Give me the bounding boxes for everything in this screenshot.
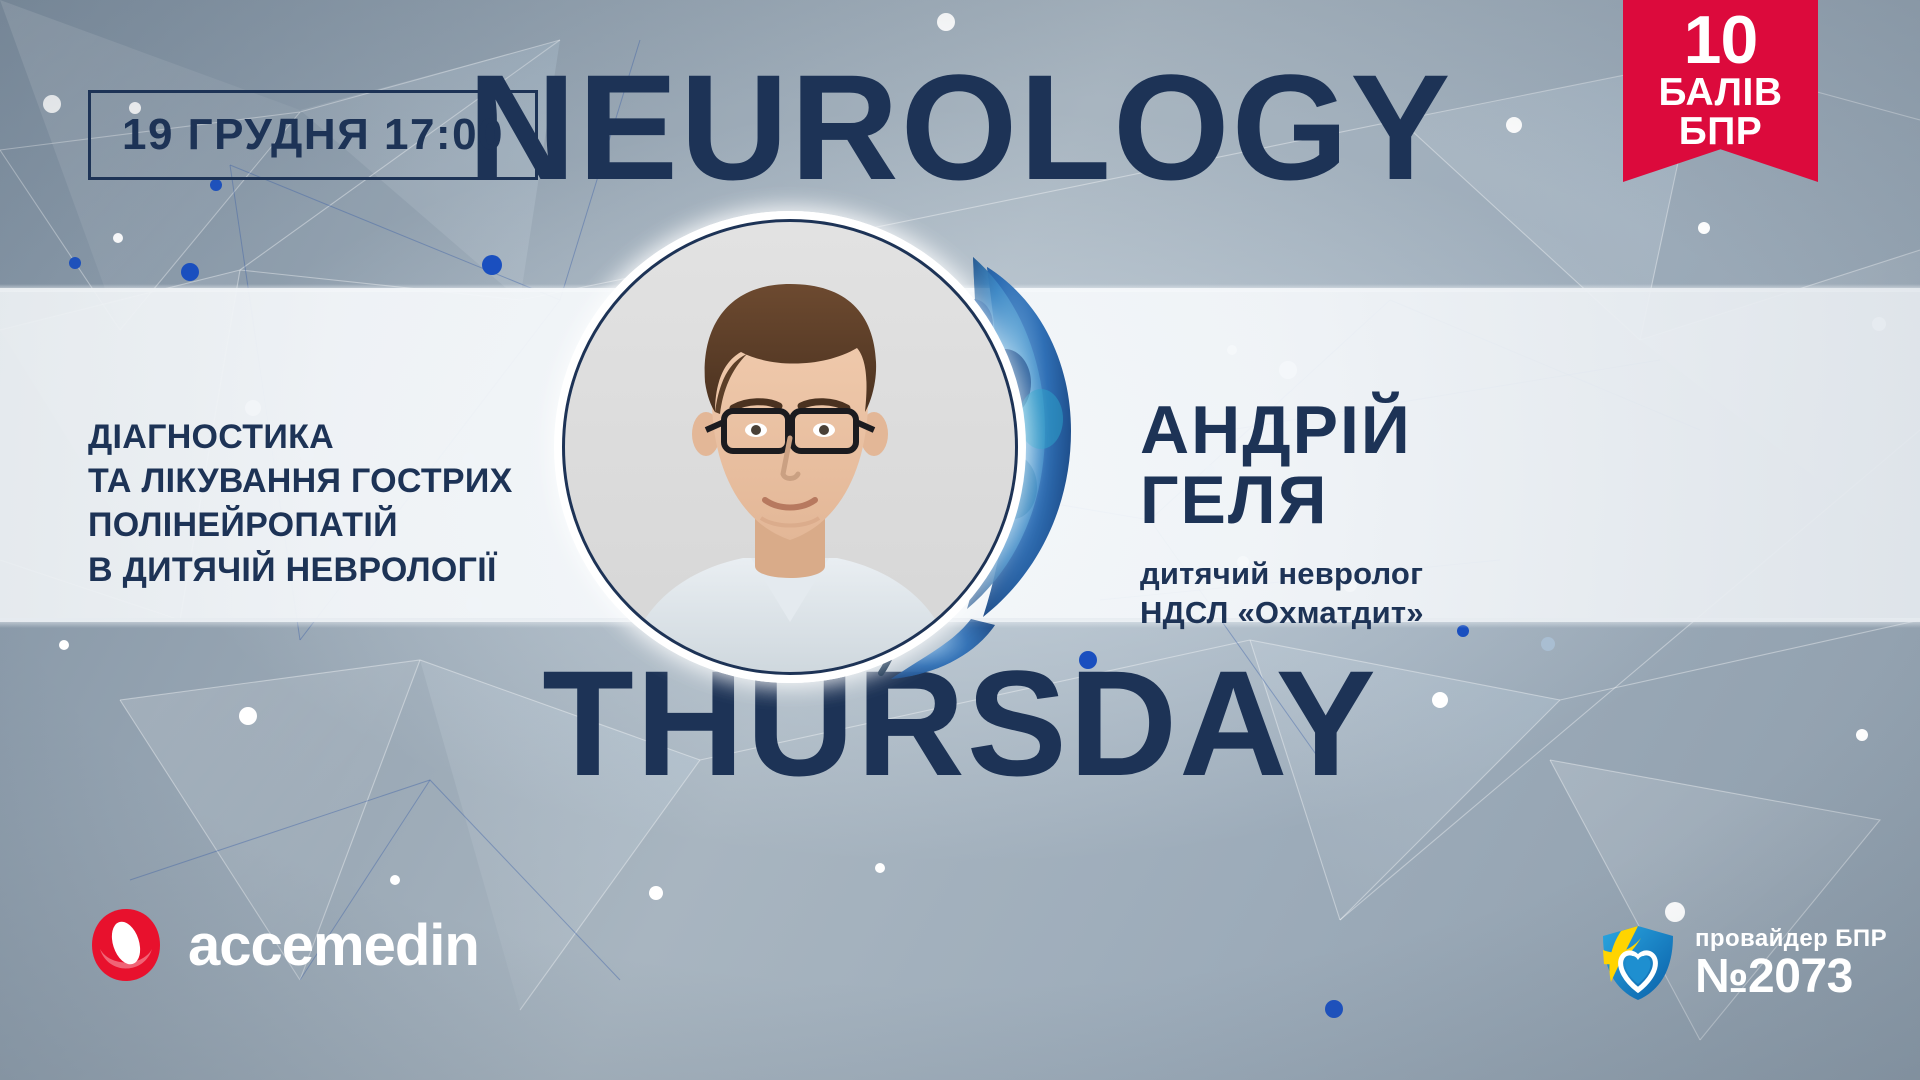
event-date-box: 19 ГРУДНЯ 17:00: [88, 90, 538, 180]
provider-logo: провайдер БПР №2073: [1595, 920, 1887, 1006]
speaker-first-name: АНДРІЙ: [1140, 395, 1620, 465]
accemedin-logo[interactable]: accemedin: [88, 905, 479, 985]
banner-canvas: NEUROLOGY THURSDAY: [0, 0, 1920, 1080]
event-date-text: 19 ГРУДНЯ 17:00: [122, 110, 504, 160]
speaker-last-name: ГЕЛЯ: [1140, 465, 1620, 535]
topic-line-1: ДІАГНОСТИКА: [88, 415, 608, 459]
credit-points-number: 10: [1623, 8, 1818, 73]
credit-points-label-1: БАЛІВ: [1623, 73, 1818, 112]
provider-label: провайдер БПР: [1695, 925, 1887, 953]
accemedin-mark-icon: [88, 905, 164, 985]
topic-title: ДІАГНОСТИКА ТА ЛІКУВАННЯ ГОСТРИХ ПОЛІНЕЙ…: [88, 415, 608, 592]
topic-line-3: ПОЛІНЕЙРОПАТІЙ: [88, 503, 608, 547]
accemedin-wordmark: accemedin: [188, 912, 479, 979]
provider-number: №2073: [1695, 953, 1887, 1001]
speaker-credential-line-1: дитячий невролог: [1140, 555, 1620, 593]
speaker-portrait-foreground: [565, 222, 1015, 672]
credit-points-label-2: БПР: [1623, 112, 1818, 151]
topic-line-2: ТА ЛІКУВАННЯ ГОСТРИХ: [88, 459, 608, 503]
topic-line-4: В ДИТЯЧІЙ НЕВРОЛОГІЇ: [88, 548, 608, 592]
speaker-credential-line-2: НДСЛ «Охматдит»: [1140, 594, 1620, 632]
provider-shield-icon: [1595, 920, 1681, 1006]
speaker-block: АНДРІЙ ГЕЛЯ дитячий невролог НДСЛ «Охмат…: [1140, 395, 1620, 632]
